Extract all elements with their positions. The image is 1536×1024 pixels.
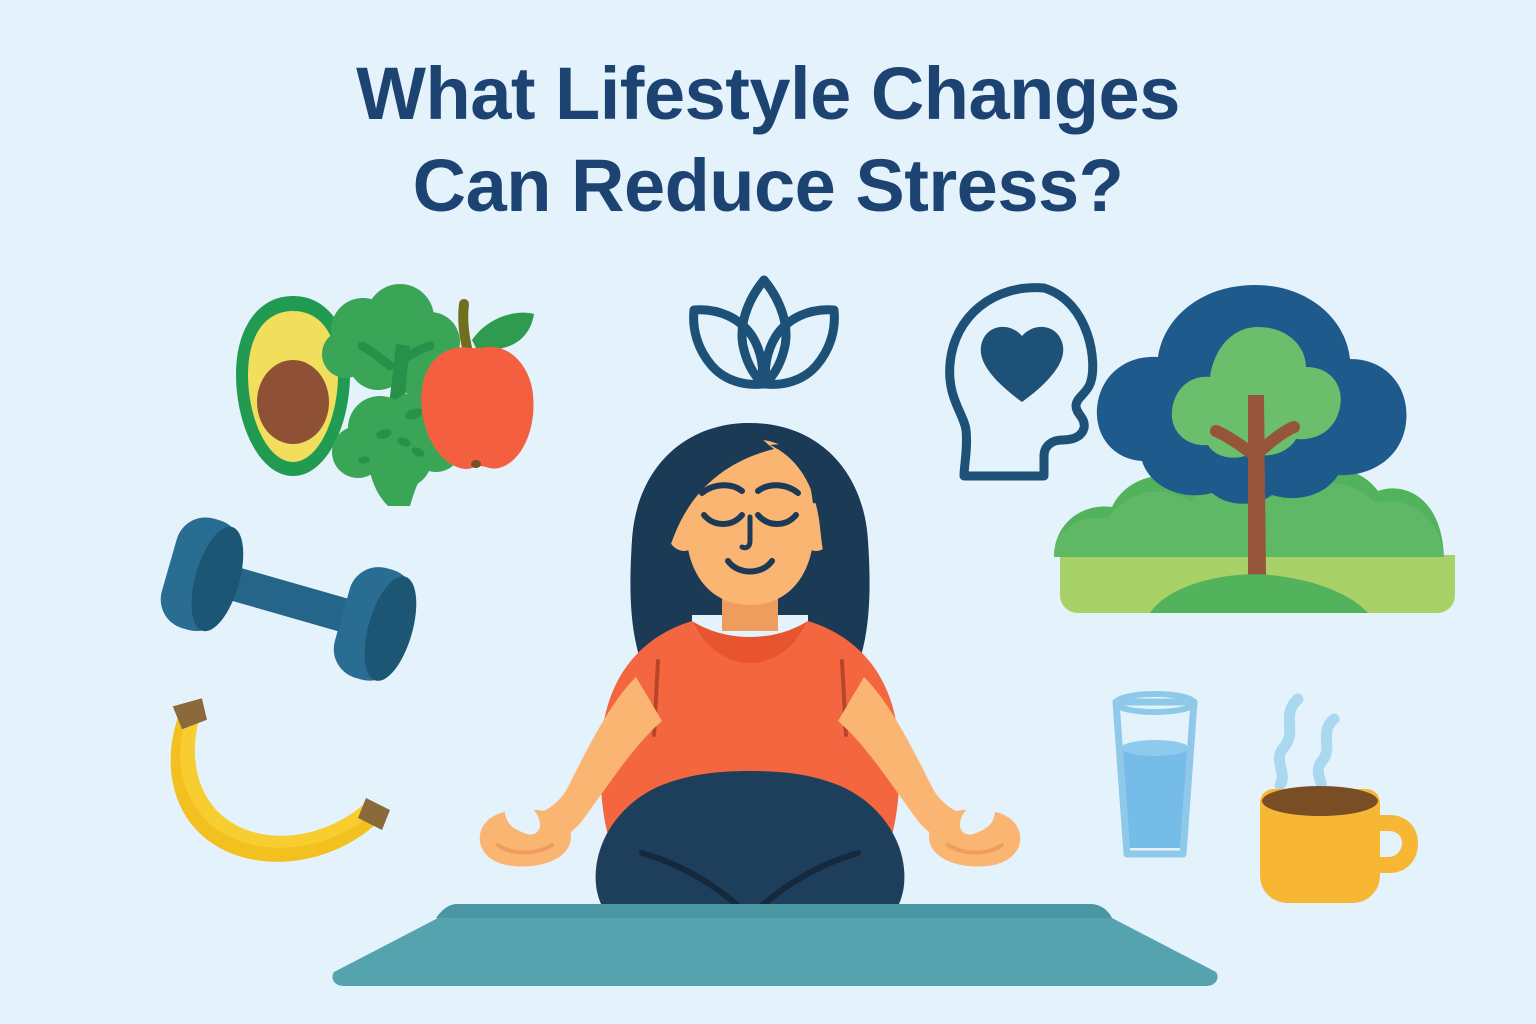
coffee-mug-icon: [1250, 685, 1420, 920]
water-glass-icon: [1096, 680, 1214, 870]
steam-wisps: [1279, 699, 1334, 795]
banana-icon: [150, 694, 405, 874]
page-title-line-1: What Lifestyle Changes: [0, 48, 1536, 140]
page-title: What Lifestyle Changes Can Reduce Stress…: [0, 48, 1536, 232]
page-title-line-2: Can Reduce Stress?: [0, 140, 1536, 232]
nature-tree-scene-icon: [1050, 275, 1465, 620]
lotus-icon: [682, 270, 847, 395]
illustration-canvas: What Lifestyle Changes Can Reduce Stress…: [0, 0, 1536, 1024]
dumbbell-icon: [142, 524, 432, 679]
yoga-mat: [330, 900, 1220, 995]
meditating-person-illustration: [440, 415, 1060, 975]
